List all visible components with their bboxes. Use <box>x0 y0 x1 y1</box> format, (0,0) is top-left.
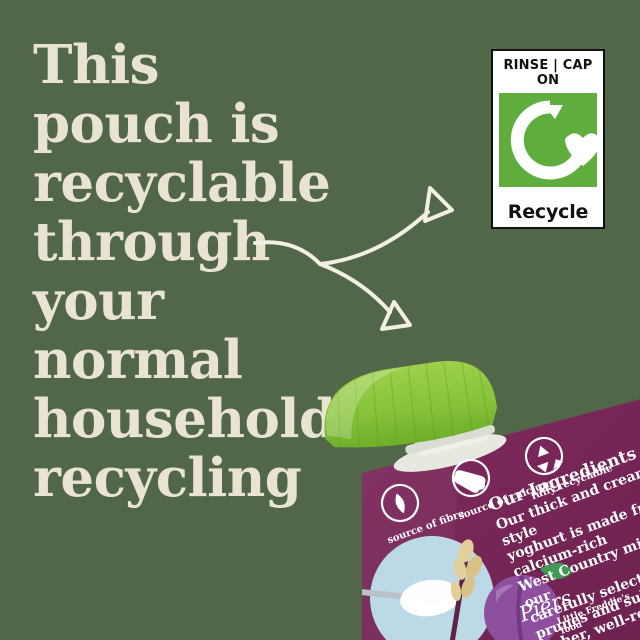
pouch-illustration <box>300 355 640 640</box>
recycle-arrow-loop-icon <box>499 93 601 187</box>
label-rinse-cap-on-text: RINSE | CAP ON <box>493 51 603 93</box>
yoghurt-pouch <box>300 355 640 640</box>
promo-image-canvas: This pouch is recyclable through your no… <box>0 0 640 640</box>
label-recycle-text: Recycle <box>493 187 603 223</box>
oprl-recycle-label: RINSE | CAP ON Recycle <box>491 49 605 229</box>
label-green-panel <box>499 93 597 187</box>
